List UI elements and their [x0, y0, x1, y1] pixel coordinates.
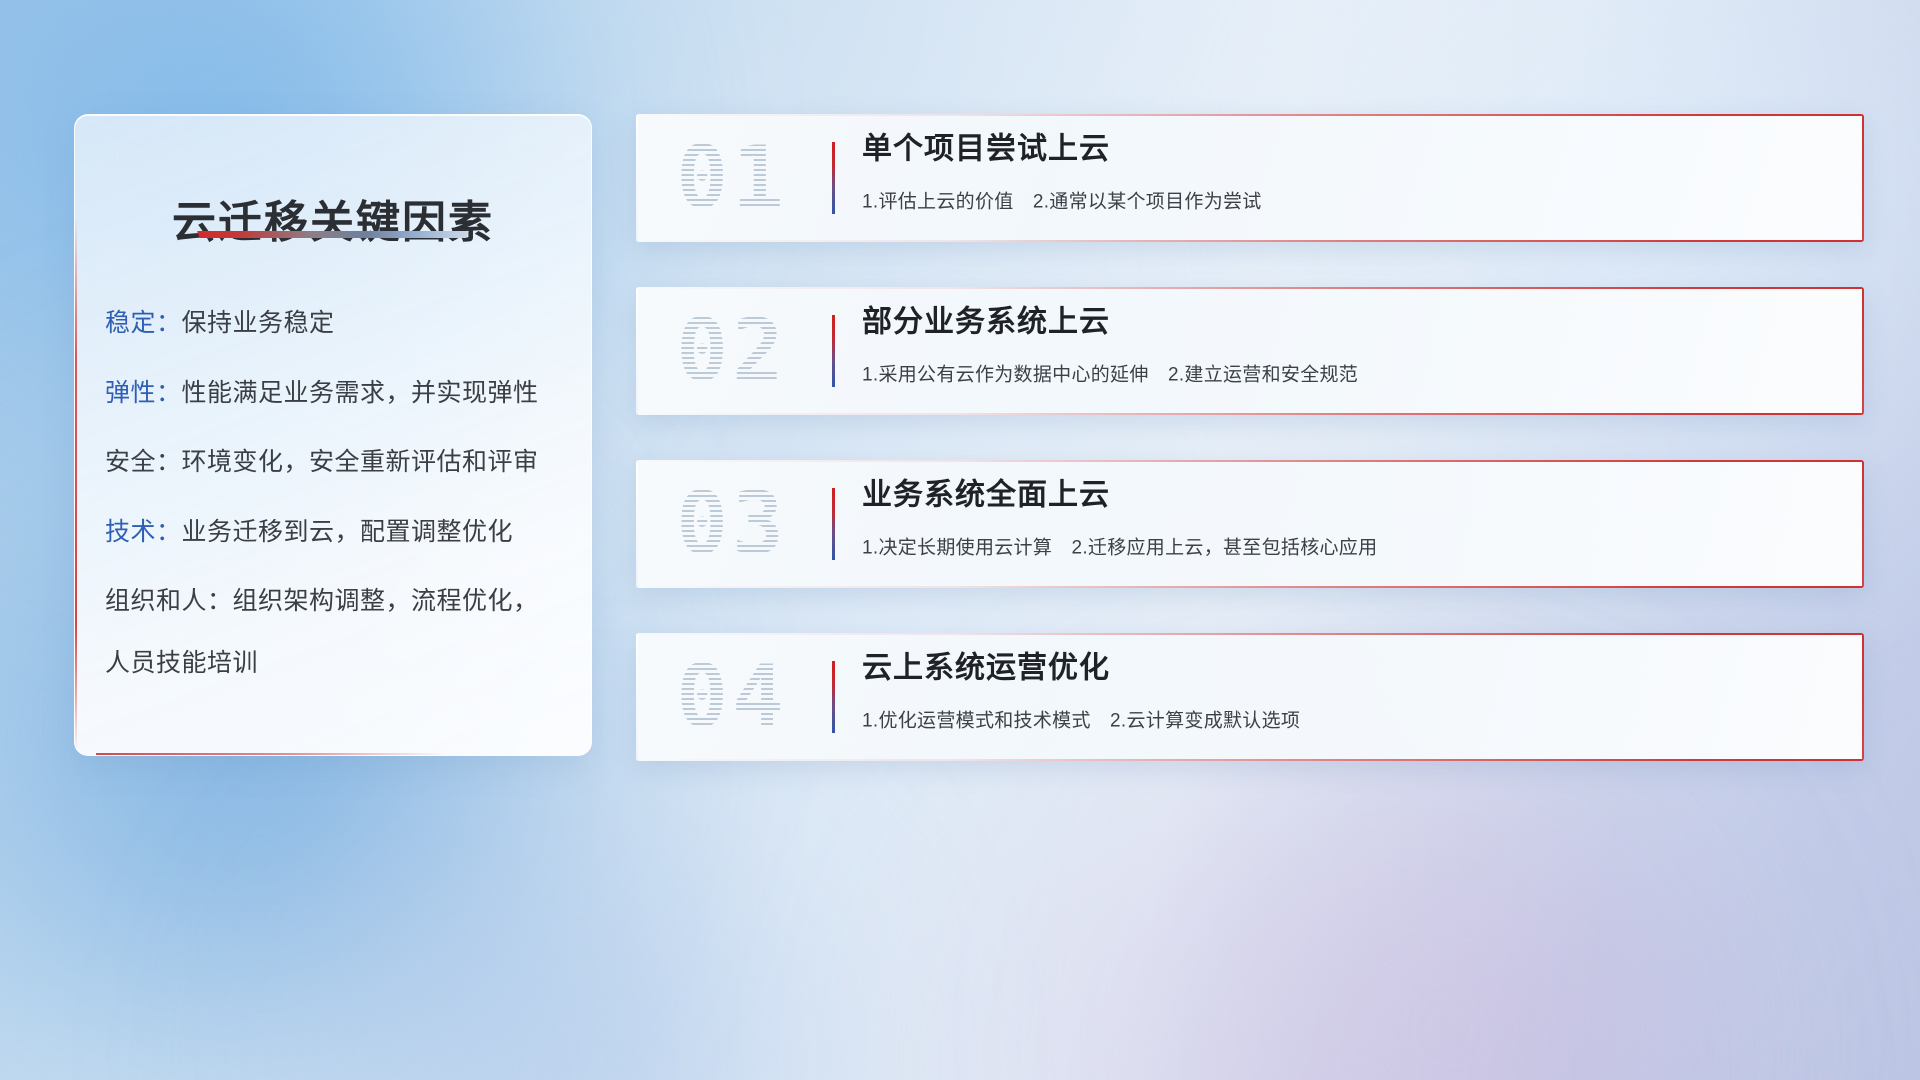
card-right-accent	[1862, 287, 1864, 415]
card-left-edge	[636, 287, 638, 415]
card-top-accent	[636, 287, 1864, 289]
card-description: 1.优化运营模式和技术模式 2.云计算变成默认选项	[862, 706, 1840, 733]
stage-card[interactable]: 02 部分业务系统上云 1.采用公有云作为数据中心的延伸 2.建立运营和安全规范	[636, 287, 1864, 415]
list-item-text: 性能满足业务需求，并实现弹性	[182, 379, 539, 407]
card-body: 部分业务系统上云 1.采用公有云作为数据中心的延伸 2.建立运营和安全规范	[862, 297, 1840, 406]
stage-card[interactable]: 04 云上系统运营优化 1.优化运营模式和技术模式 2.云计算变成默认选项	[636, 633, 1864, 761]
card-left-edge	[636, 114, 638, 242]
card-title: 单个项目尝试上云	[862, 124, 1840, 168]
stage-number-watermark: 03	[662, 470, 802, 578]
card-top-accent	[636, 633, 1864, 635]
card-description: 1.决定长期使用云计算 2.迁移应用上云，甚至包括核心应用	[862, 533, 1840, 560]
card-title: 部分业务系统上云	[862, 297, 1840, 341]
card-title: 云上系统运营优化	[862, 643, 1840, 687]
card-body: 云上系统运营优化 1.优化运营模式和技术模式 2.云计算变成默认选项	[862, 643, 1840, 752]
card-left-edge	[636, 633, 638, 761]
list-item-text: 业务迁移到云，配置调整优化	[182, 518, 514, 546]
page-title: 云迁移关键因素	[75, 186, 591, 250]
card-description: 1.采用公有云作为数据中心的延伸 2.建立运营和安全规范	[862, 360, 1840, 387]
card-right-accent	[1862, 633, 1864, 761]
card-bottom-accent	[636, 240, 1864, 242]
title-underline-gradient	[197, 231, 469, 238]
list-item-label: 技术：	[105, 518, 182, 546]
list-item-text: 环境变化，安全重新评估和评审	[182, 448, 539, 476]
card-right-accent	[1862, 460, 1864, 588]
card-bottom-accent	[636, 759, 1864, 761]
card-top-accent	[636, 114, 1864, 116]
card-body: 单个项目尝试上云 1.评估上云的价值 2.通常以某个项目作为尝试	[862, 124, 1840, 233]
list-item-text: 人员技能培训	[105, 649, 258, 677]
key-factors-panel: 云迁移关键因素 稳定：保持业务稳定 弹性：性能满足业务需求，并实现弹性 安全：环…	[74, 114, 592, 756]
card-left-edge	[636, 460, 638, 588]
stage-number-watermark: 02	[662, 297, 802, 405]
card-top-accent	[636, 460, 1864, 462]
list-item: 技术：业务迁移到云，配置调整优化	[105, 516, 567, 550]
list-item-text: 组织架构调整，流程优化，	[233, 587, 539, 615]
list-item: 弹性：性能满足业务需求，并实现弹性	[105, 377, 567, 411]
list-item-label: 弹性：	[105, 379, 182, 407]
stage-card[interactable]: 01 单个项目尝试上云 1.评估上云的价值 2.通常以某个项目作为尝试	[636, 114, 1864, 242]
stage-number-watermark: 01	[662, 124, 802, 232]
list-item-label: 安全：	[105, 448, 182, 476]
card-description: 1.评估上云的价值 2.通常以某个项目作为尝试	[862, 187, 1840, 214]
list-item-label: 组织和人：	[105, 587, 233, 615]
card-divider-bar	[832, 142, 835, 214]
list-item: 组织和人：组织架构调整，流程优化，	[105, 585, 567, 619]
list-item-label: 稳定：	[105, 309, 182, 337]
migration-stage-cards: 01 单个项目尝试上云 1.评估上云的价值 2.通常以某个项目作为尝试 02 部…	[636, 114, 1864, 761]
list-item: 安全：环境变化，安全重新评估和评审	[105, 446, 567, 480]
list-item-continuation: 人员技能培训	[105, 647, 567, 681]
card-bottom-accent	[636, 413, 1864, 415]
list-item: 稳定：保持业务稳定	[105, 307, 567, 341]
card-bottom-accent	[636, 586, 1864, 588]
card-divider-bar	[832, 488, 835, 560]
stage-number-watermark: 04	[662, 643, 802, 751]
card-body: 业务系统全面上云 1.决定长期使用云计算 2.迁移应用上云，甚至包括核心应用	[862, 470, 1840, 579]
list-item-text: 保持业务稳定	[182, 309, 335, 337]
stage-card[interactable]: 03 业务系统全面上云 1.决定长期使用云计算 2.迁移应用上云，甚至包括核心应…	[636, 460, 1864, 588]
card-divider-bar	[832, 661, 835, 733]
card-right-accent	[1862, 114, 1864, 242]
key-factors-list: 稳定：保持业务稳定 弹性：性能满足业务需求，并实现弹性 安全：环境变化，安全重新…	[105, 307, 567, 680]
card-divider-bar	[832, 315, 835, 387]
card-title: 业务系统全面上云	[862, 470, 1840, 514]
